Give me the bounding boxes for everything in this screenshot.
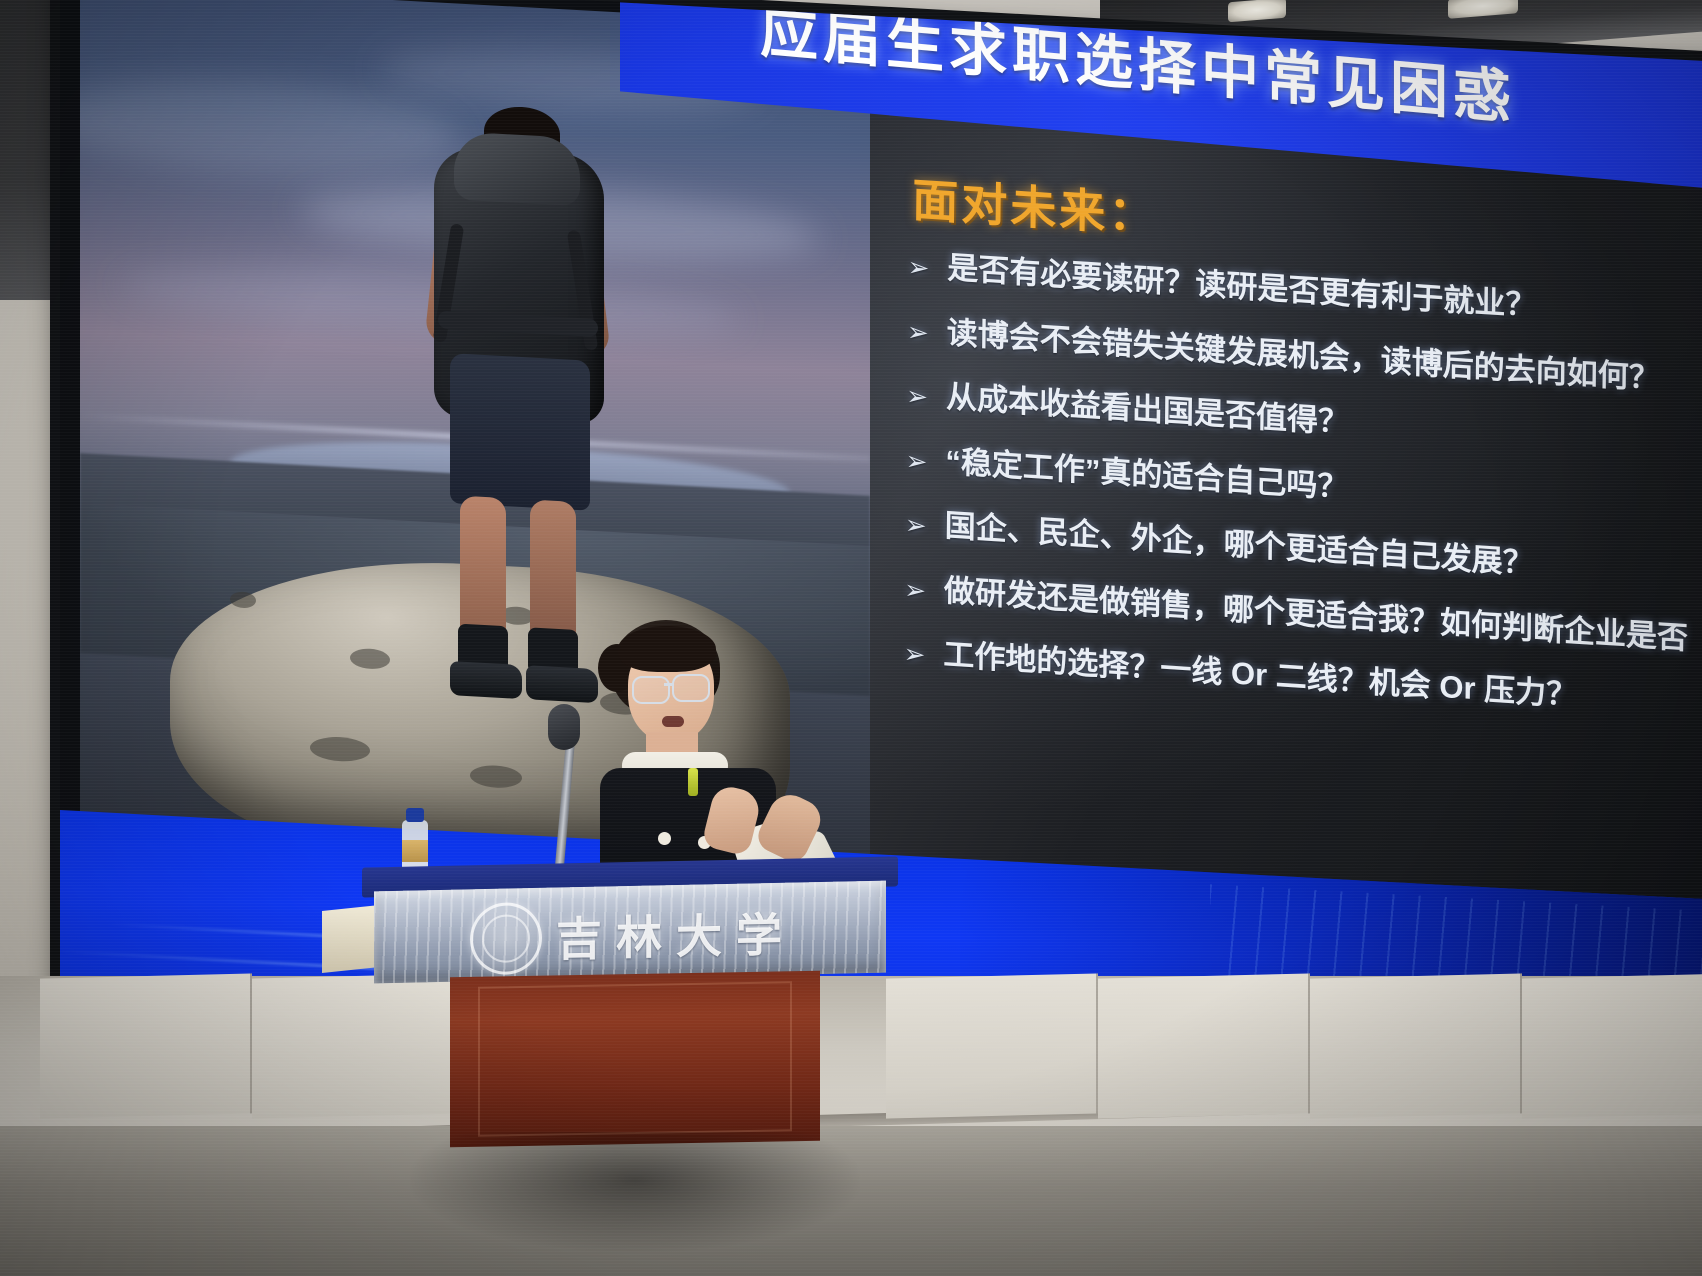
speaker-fringe [618, 626, 716, 672]
institution-name: 吉林大学 [556, 899, 796, 970]
wall-panel [886, 973, 1098, 1118]
bottle-label [402, 840, 428, 862]
glasses-bridge [664, 683, 674, 686]
bullet-text: 国企、民企、外企，哪个更适合自己发展？ [944, 508, 1533, 583]
bullet-arrow-icon: ➢ [905, 443, 927, 479]
bullet-text: 工作地的选择？一线 Or 二线？机会 Or 压力？ [943, 637, 1577, 715]
photo-scene: 应届生求职选择中常见困惑 面对未来： ➢ 是否有必要读研？读研是否更有利于就业？… [0, 0, 1702, 1276]
hiker-shorts [450, 353, 590, 511]
wall-panel [40, 973, 252, 1118]
lectern-base [450, 971, 820, 1147]
bullet-arrow-icon: ➢ [904, 572, 926, 608]
slide-bullet-list: ➢ 是否有必要读研？读研是否更有利于就业？ ➢ 读博会不会错失关键发展机会，读博… [887, 246, 1702, 727]
wall-panel [1310, 973, 1522, 1118]
university-seal-icon [470, 902, 542, 976]
bullet-arrow-icon: ➢ [905, 508, 927, 544]
lectern-shadow [410, 1132, 860, 1252]
bullet-arrow-icon: ➢ [907, 249, 929, 285]
speaker-mouth [662, 716, 684, 727]
wall-panel [1098, 973, 1310, 1118]
hiker-backpack-top [454, 131, 580, 206]
bullet-arrow-icon: ➢ [903, 637, 925, 673]
wall-panel [1522, 973, 1702, 1118]
lapel-microphone-icon [688, 768, 698, 796]
lectern: 吉林大学 [350, 862, 910, 1276]
bullet-text: “稳定工作”真的适合自己吗？ [945, 444, 1348, 507]
wall-left-dark-panel [0, 0, 60, 300]
bullet-text: 从成本收益看出国是否值得？ [946, 379, 1349, 442]
bullet-arrow-icon: ➢ [906, 379, 928, 415]
glasses-icon [632, 676, 670, 704]
bullet-arrow-icon: ➢ [907, 314, 929, 350]
microphone-icon [548, 704, 580, 750]
bullet-text: 读博会不会错失关键发展机会，读博后的去向如何？ [947, 315, 1660, 398]
glasses-icon [672, 674, 710, 702]
coat-button [658, 832, 671, 845]
lectern-front-panel: 吉林大学 [374, 881, 886, 984]
hiker-boot-left [450, 661, 522, 699]
slide-content: 面对未来： ➢ 是否有必要读研？读研是否更有利于就业？ ➢ 读博会不会错失关键发… [887, 133, 1702, 756]
bottle-cap [406, 808, 424, 822]
